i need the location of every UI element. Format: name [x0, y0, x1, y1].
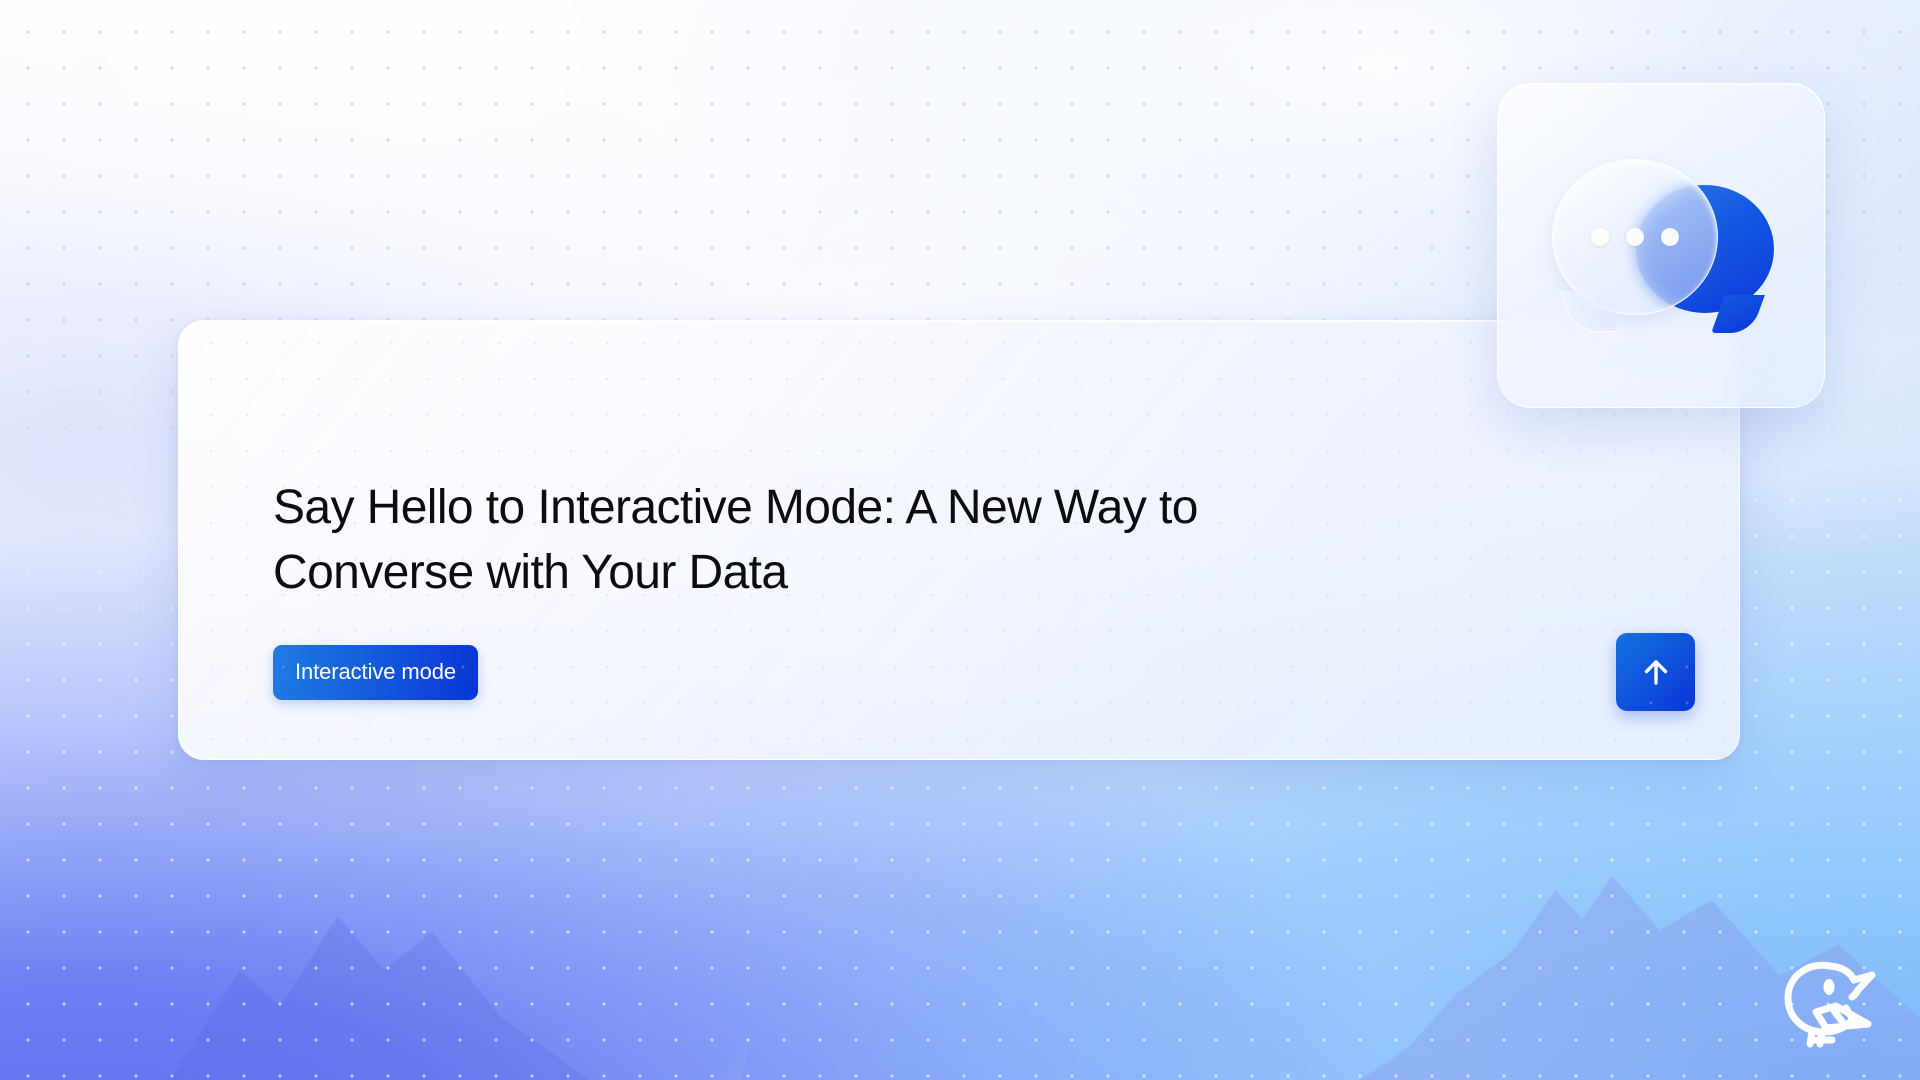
page-title: Say Hello to Interactive Mode: A New Way… — [273, 475, 1453, 606]
bird-logo-icon — [1772, 950, 1884, 1050]
page-root: Say Hello to Interactive Mode: A New Way… — [0, 0, 1920, 1080]
chat-bubbles-icon — [1546, 151, 1776, 341]
chat-bubble-front-icon — [1552, 159, 1718, 315]
typing-dot-icon — [1591, 228, 1609, 246]
chat-bubbles-icon-card — [1497, 83, 1825, 408]
typing-dot-icon — [1661, 228, 1679, 246]
typing-dot-icon — [1626, 228, 1644, 246]
